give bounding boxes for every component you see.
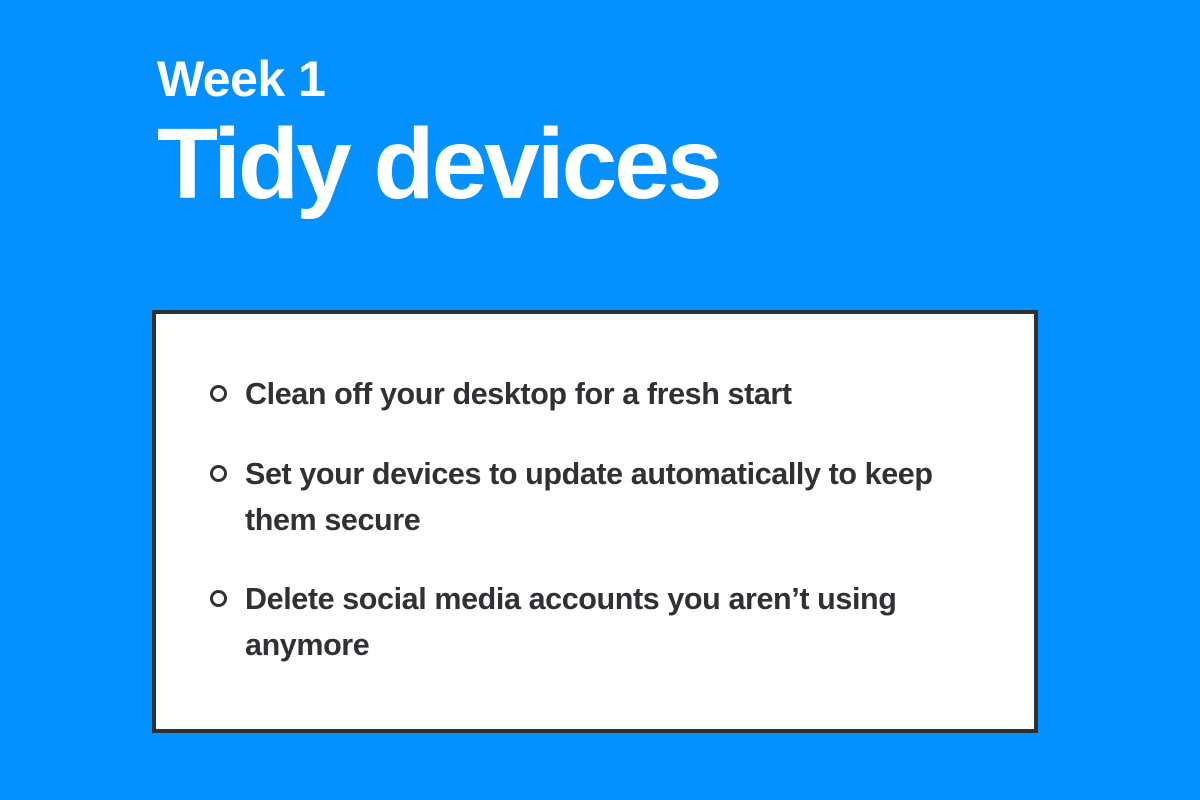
hollow-circle-icon [210,465,227,482]
list-item-label: Clean off your desktop for a fresh start [245,372,975,418]
heading-block: Week 1 Tidy devices [157,52,1117,215]
list-item-label: Set your devices to update automatically… [245,452,975,544]
hollow-circle-icon [210,385,227,402]
list-item: Delete social media accounts you aren’t … [210,577,1004,669]
slide-canvas: Week 1 Tidy devices Clean off your deskt… [0,0,1200,800]
tips-card: Clean off your desktop for a fresh start… [152,310,1038,733]
page-title: Tidy devices [157,113,1117,215]
week-label: Week 1 [157,52,1117,107]
list-item-label: Delete social media accounts you aren’t … [245,577,975,669]
tips-list: Clean off your desktop for a fresh start… [210,372,1004,669]
list-item: Clean off your desktop for a fresh start [210,372,1004,418]
list-item: Set your devices to update automatically… [210,452,1004,544]
hollow-circle-icon [210,590,227,607]
